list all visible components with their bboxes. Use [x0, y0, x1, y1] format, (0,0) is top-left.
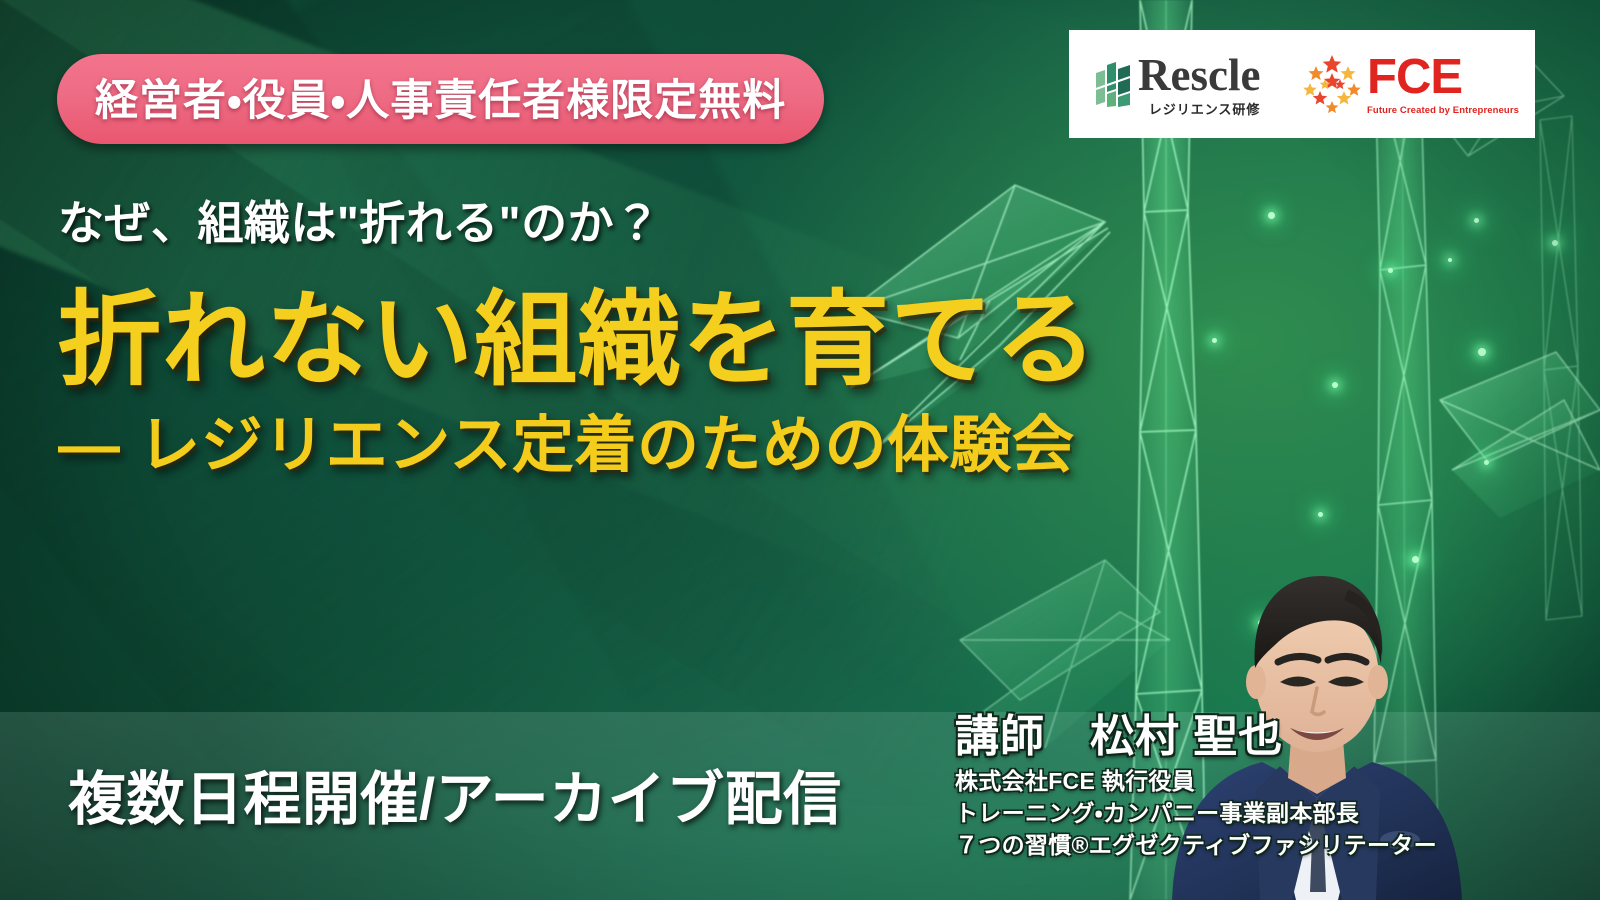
rescle-tagline: レジリエンス研修: [1149, 103, 1261, 116]
rescle-name: Rescle: [1138, 53, 1260, 98]
fce-star-sphere-icon: [1301, 53, 1363, 115]
speaker-name: 講師 松村 聖也: [955, 714, 1575, 760]
rescle-logo: Rescle レジリエンス研修: [1069, 53, 1260, 116]
speaker-role-line: トレーニング・カンパニー事業副本部長: [955, 798, 1575, 830]
headline-block: なぜ、組織は"折れる"のか？ 折れない組織を育てる ― レジリエンス定着のための…: [58, 196, 1098, 478]
headline-kicker: なぜ、組織は"折れる"のか？: [58, 196, 1098, 250]
eligibility-badge: 経営者・役員・人事責任者様限定無料: [57, 54, 824, 144]
speaker-role-line: 株式会社FCE 執行役員: [955, 766, 1575, 798]
rescle-wordmark: Rescle レジリエンス研修: [1138, 53, 1260, 116]
eligibility-badge-label: 経営者・役員・人事責任者様限定無料: [95, 66, 786, 128]
fce-logo: FCE Future Created by Entrepreneurs: [1301, 53, 1535, 116]
speaker-info: 講師 松村 聖也 株式会社FCE 執行役員 トレーニング・カンパニー事業副本部長…: [955, 714, 1575, 861]
headline-subtitle: ― レジリエンス定着のための体験会: [58, 413, 1098, 478]
speaker-role-line: ７つの習慣®エグゼクティブファシリテーター: [955, 830, 1575, 862]
page-title: 折れない組織を育てる: [58, 288, 1098, 391]
rescle-mark-icon: [1096, 61, 1130, 107]
fce-name: FCE: [1367, 53, 1519, 102]
schedule-note: 複数日程開催/アーカイブ配信: [68, 752, 842, 836]
logo-panel: Rescle レジリエンス研修: [1069, 30, 1535, 138]
webinar-banner: 経営者・役員・人事責任者様限定無料 なぜ、組織は"折れる"のか？ 折れない組織を…: [0, 0, 1600, 900]
fce-tagline: Future Created by Entrepreneurs: [1367, 106, 1519, 116]
fce-wordmark: FCE Future Created by Entrepreneurs: [1367, 53, 1519, 116]
